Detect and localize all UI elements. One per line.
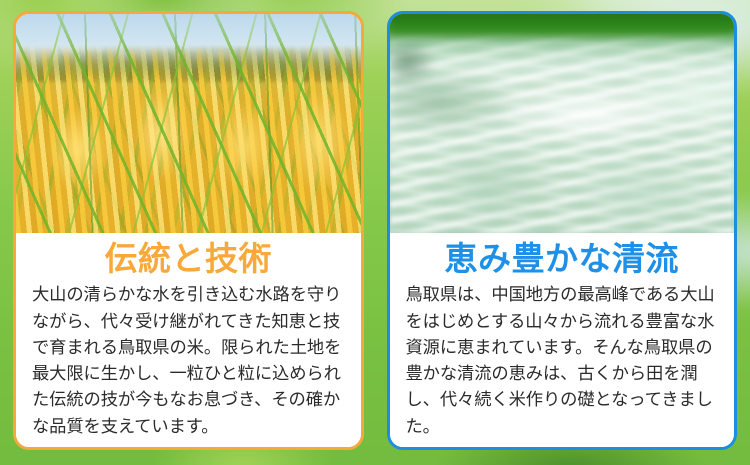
card-clear-stream-heading: 恵み豊かな清流 [406,239,719,279]
card-tradition-body: 大山の清らかな水を引き込む水路を守りながら、代々受け継がれてきた知恵と技で育まれ… [32,281,345,439]
card-row: 伝統と技術 大山の清らかな水を引き込む水路を守りながら、代々受け継がれてきた知恵… [0,0,750,465]
card-tradition-text: 伝統と技術 大山の清らかな水を引き込む水路を守りながら、代々受け継がれてきた知恵… [16,233,361,447]
card-tradition-heading: 伝統と技術 [32,239,345,279]
promo-banner: 伝統と技術 大山の清らかな水を引き込む水路を守りながら、代々受け継がれてきた知恵… [0,0,750,465]
card-clear-stream[interactable]: 恵み豊かな清流 鳥取県は、中国地方の最高峰である大山をはじめとする山々から流れる… [387,11,738,450]
card-clear-stream-body: 鳥取県は、中国地方の最高峰である大山をはじめとする山々から流れる豊富な水資源に恵… [406,281,719,439]
stream-photo-layers [390,14,735,233]
card-tradition[interactable]: 伝統と技術 大山の清らかな水を引き込む水路を守りながら、代々受け継がれてきた知恵… [13,11,364,450]
card-clear-stream-text: 恵み豊かな清流 鳥取県は、中国地方の最高峰である大山をはじめとする山々から流れる… [390,233,735,447]
green-bank-layer [390,14,735,40]
rice-field-photo [16,14,361,233]
water-ridges-layer [390,14,735,233]
green-leaf-blades-layer [16,14,361,233]
clear-stream-photo [390,14,735,233]
rice-photo-layers [16,14,361,233]
